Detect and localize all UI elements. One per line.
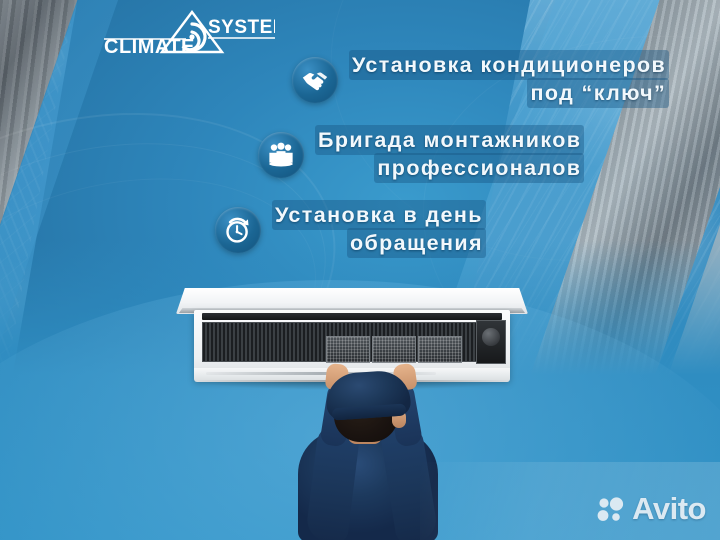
- ac-fan-knob: [482, 328, 500, 346]
- feature-line-2: под “ключ”: [530, 81, 666, 105]
- avito-dots-icon: [596, 494, 626, 524]
- feature-line-1: Установка в день: [275, 203, 483, 227]
- avito-watermark: Avito: [596, 493, 706, 524]
- avito-wordmark: Avito: [632, 493, 706, 524]
- climate-systems-logo: SYSTEMS CLIMATE: [100, 6, 275, 64]
- handshake-icon: [292, 57, 338, 103]
- ac-filter-panel: [326, 336, 370, 363]
- ac-air-intake-slot: [202, 313, 502, 320]
- feature-text: Установка кондиционеров под “ключ”: [352, 52, 666, 107]
- feature-item-same-day-installation: Установка в день обращения: [215, 202, 483, 257]
- clock-arrow-icon: [215, 207, 261, 253]
- feature-line-2: профессионалов: [377, 156, 581, 180]
- technician-figure: [252, 372, 484, 540]
- group-people-icon: [258, 132, 304, 178]
- feature-line-1: Бригада монтажников: [318, 128, 581, 152]
- advertisement-banner: SYSTEMS CLIMATE Установка кондиционеров …: [0, 0, 720, 540]
- feature-line-2: обращения: [350, 231, 483, 255]
- feature-line-1: Установка кондиционеров: [352, 53, 666, 77]
- feature-text: Установка в день обращения: [275, 202, 483, 257]
- logo-word-systems: SYSTEMS: [208, 17, 275, 38]
- feature-item-turnkey-installation: Установка кондиционеров под “ключ”: [292, 52, 666, 107]
- feature-text: Бригада монтажников профессионалов: [318, 127, 581, 182]
- feature-item-professional-crew: Бригада монтажников профессионалов: [258, 127, 581, 182]
- ac-filter-panel: [418, 336, 462, 363]
- technician-torso: [298, 430, 438, 540]
- ac-filter-panel: [372, 336, 416, 363]
